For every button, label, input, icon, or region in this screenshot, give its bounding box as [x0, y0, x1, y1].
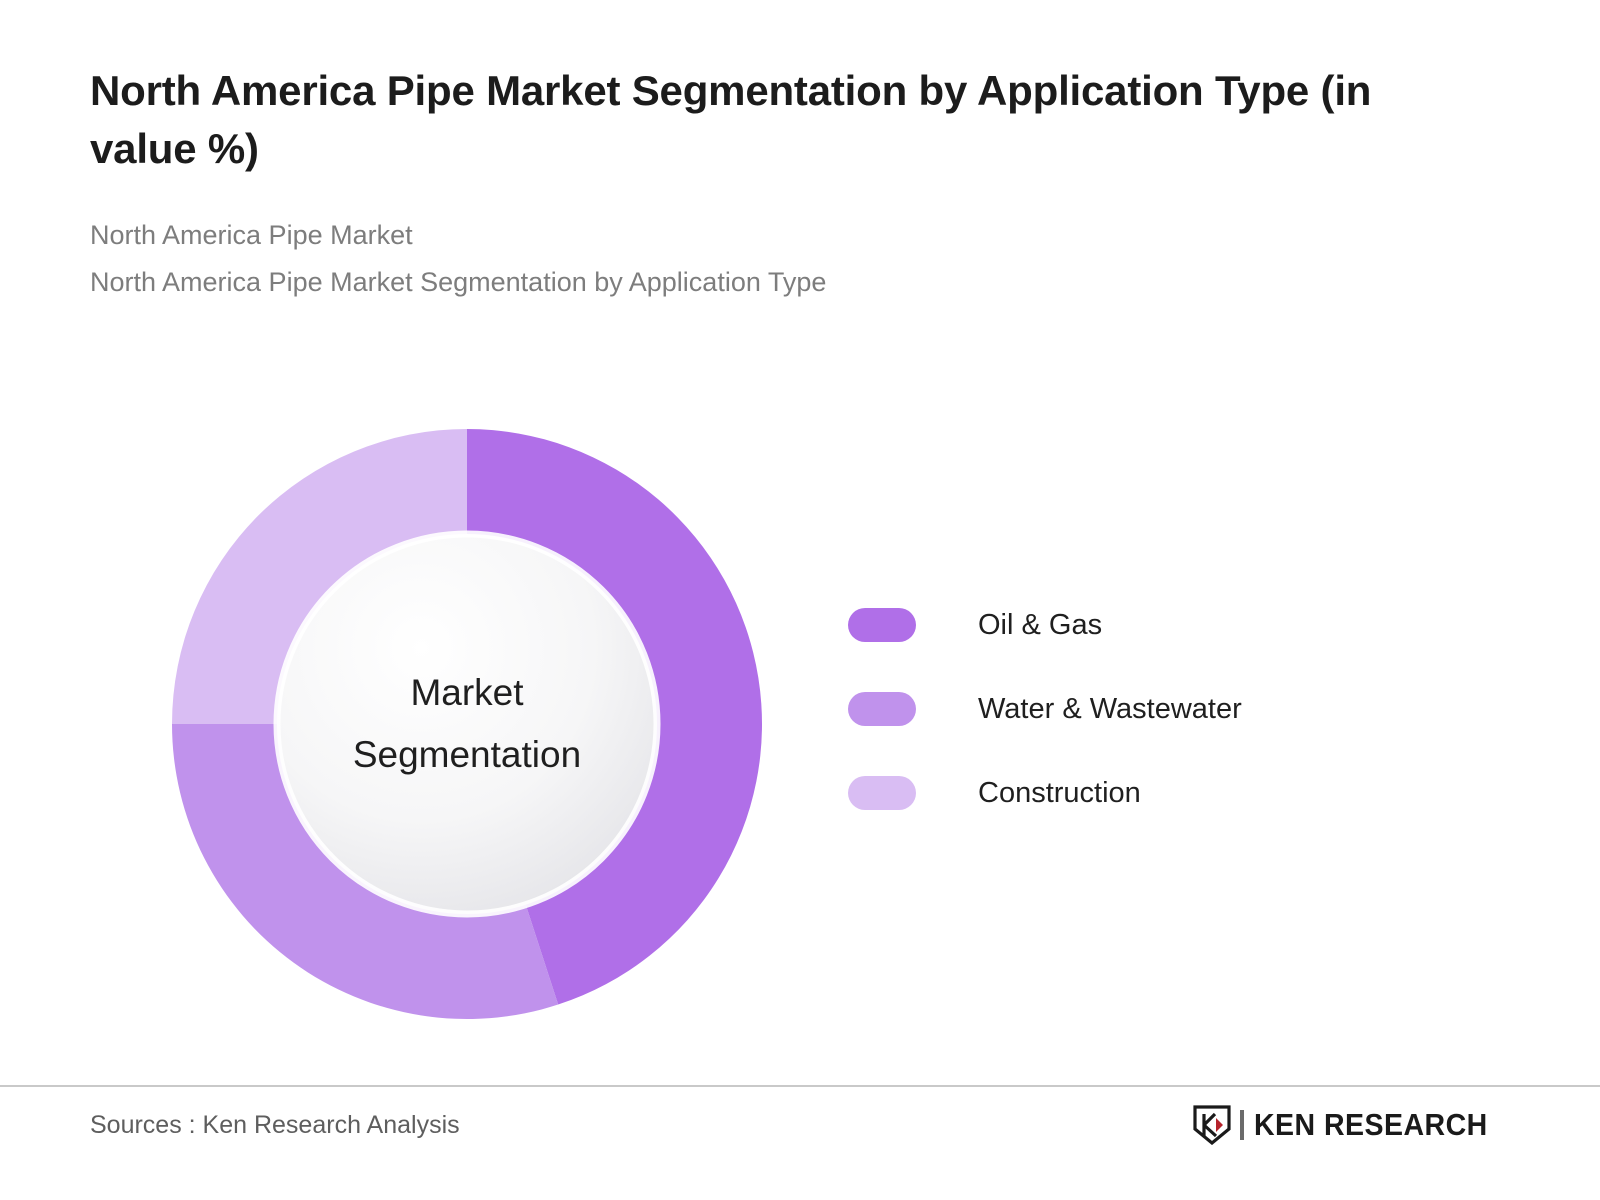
footer: Sources : Ken Research Analysis KEN RESE…	[0, 1087, 1600, 1200]
donut-svg	[172, 429, 762, 1019]
legend-label: Oil & Gas	[978, 609, 1102, 642]
brand-divider	[1240, 1110, 1244, 1140]
page-title: North America Pipe Market Segmentation b…	[90, 62, 1480, 178]
subtitle-line-2: North America Pipe Market Segmentation b…	[90, 259, 1510, 306]
brand-logo: KEN RESEARCH	[1193, 1105, 1508, 1145]
donut-chart: Market Segmentation	[172, 429, 762, 1019]
plot-area: Market Segmentation Oil & GasWater & Was…	[0, 400, 1600, 1060]
subtitle-line-1: North America Pipe Market	[90, 212, 1510, 259]
legend-item[interactable]: Oil & Gas	[848, 583, 1242, 667]
legend-item[interactable]: Construction	[848, 751, 1242, 835]
legend-label: Water & Wastewater	[978, 693, 1242, 726]
legend-item[interactable]: Water & Wastewater	[848, 667, 1242, 751]
chart-slide: North America Pipe Market Segmentation b…	[0, 0, 1600, 1200]
ken-research-shield-icon	[1193, 1105, 1231, 1145]
source-note: Sources : Ken Research Analysis	[90, 1111, 460, 1140]
legend-label: Construction	[978, 777, 1141, 810]
chart-subtitle: North America Pipe Market North America …	[90, 178, 1510, 307]
header: North America Pipe Market Segmentation b…	[90, 62, 1510, 306]
chart-legend: Oil & GasWater & WastewaterConstruction	[848, 583, 1242, 835]
legend-swatch-icon	[848, 776, 916, 810]
legend-swatch-icon	[848, 692, 916, 726]
brand-name: KEN RESEARCH	[1254, 1107, 1488, 1143]
legend-swatch-icon	[848, 608, 916, 642]
